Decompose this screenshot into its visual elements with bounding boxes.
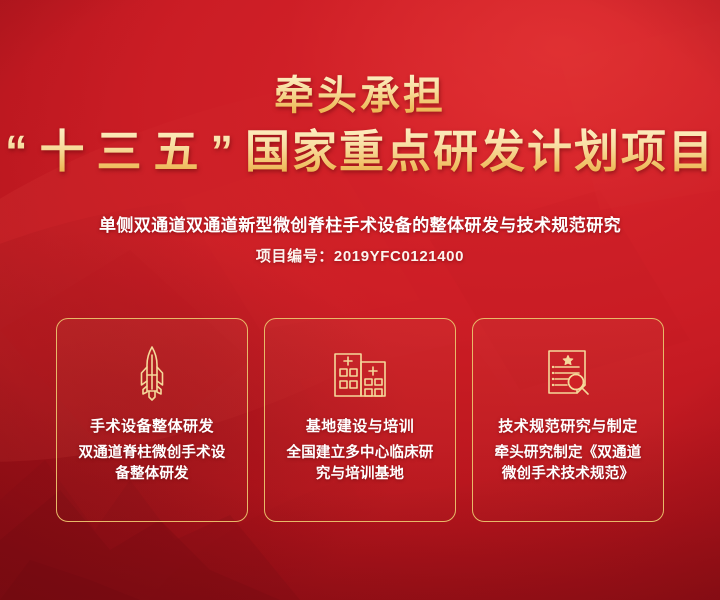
feature-card-base-training[interactable]: 基地建设与培训 全国建立多中心临床研究与培训基地 bbox=[264, 318, 456, 522]
feature-card-description: 牵头研究制定《双通道微创手术技术规范》 bbox=[488, 443, 648, 484]
page-title-quoted-term: “十三五” bbox=[5, 126, 245, 177]
headline-group: 牵头承担 “十三五”国家重点研发计划项目 bbox=[0, 74, 720, 177]
feature-card-title: 手术设备整体研发 bbox=[90, 415, 214, 436]
page-title-line-1: 牵头承担 bbox=[0, 74, 720, 119]
project-number: 项目编号：2019YFC0121400 bbox=[0, 245, 720, 266]
hospital-building-icon bbox=[332, 345, 388, 401]
poster-banner: 牵头承担 “十三五”国家重点研发计划项目 单侧双通道双通道新型微创脊柱手术设备的… bbox=[0, 0, 720, 600]
feature-card-tech-standard[interactable]: 技术规范研究与制定 牵头研究制定《双通道微创手术技术规范》 bbox=[472, 318, 664, 522]
project-subtitle: 单侧双通道双通道新型微创脊柱手术设备的整体研发与技术规范研究 bbox=[0, 211, 720, 236]
feature-card-title: 技术规范研究与制定 bbox=[498, 415, 638, 436]
rocket-icon bbox=[132, 345, 172, 401]
page-title-line-2: “十三五”国家重点研发计划项目 bbox=[0, 127, 720, 177]
feature-card-list: 手术设备整体研发 双通道脊柱微创手术设备整体研发 bbox=[56, 318, 664, 522]
document-search-icon bbox=[543, 345, 593, 401]
feature-card-description: 全国建立多中心临床研究与培训基地 bbox=[280, 443, 440, 484]
page-title-program-name: 国家重点研发计划项目 bbox=[245, 126, 715, 177]
feature-card-title: 基地建设与培训 bbox=[306, 415, 415, 436]
feature-card-description: 双通道脊柱微创手术设备整体研发 bbox=[72, 443, 232, 484]
feature-card-equipment-rd[interactable]: 手术设备整体研发 双通道脊柱微创手术设备整体研发 bbox=[56, 318, 248, 522]
